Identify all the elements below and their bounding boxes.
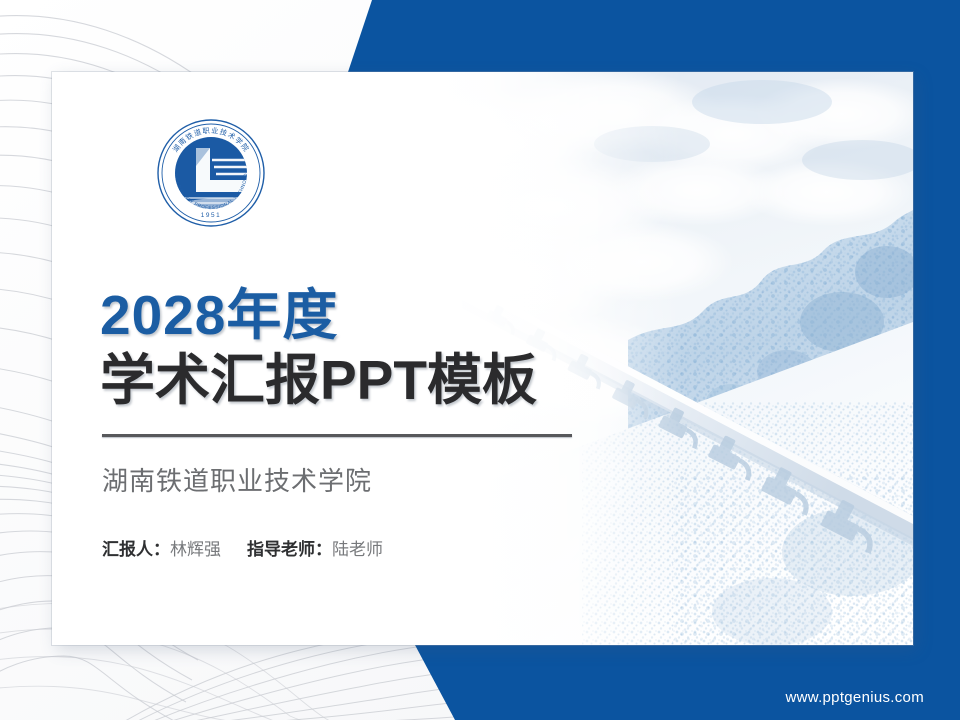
- credits-line: 汇报人：林辉强指导老师：陆老师: [102, 535, 640, 560]
- footer-website-url[interactable]: www.pptgenius.com: [786, 689, 925, 706]
- title-divider: [102, 434, 572, 437]
- page-title: 学术汇报PPT模板: [100, 350, 640, 412]
- right-blue-strip: [913, 72, 960, 645]
- bottom-blue-band: [415, 645, 960, 720]
- hunan-railway-college-emblem: 湖南铁道职业技术学院 HUNAN RAILWAY PROFESSIONAL TE…: [152, 114, 270, 232]
- slide-content-card: 湖南铁道职业技术学院 HUNAN RAILWAY PROFESSIONAL TE…: [52, 72, 913, 645]
- presenter-label: 汇报人：: [102, 540, 170, 559]
- presentation-slide: 湖南铁道职业技术学院 HUNAN RAILWAY PROFESSIONAL TE…: [0, 0, 960, 720]
- title-year: 2028年度: [100, 287, 640, 344]
- title-text-block: 2028年度 学术汇报PPT模板 湖南铁道职业技术学院 汇报人：林辉强指导老师：…: [100, 287, 640, 560]
- presenter-name: 林辉强: [170, 540, 221, 559]
- advisor-name: 陆老师: [332, 540, 383, 559]
- top-blue-band: [348, 0, 960, 72]
- school-name: 湖南铁道职业技术学院: [102, 461, 640, 498]
- advisor-label: 指导老师：: [247, 540, 332, 559]
- emblem-year: 1951: [201, 212, 222, 219]
